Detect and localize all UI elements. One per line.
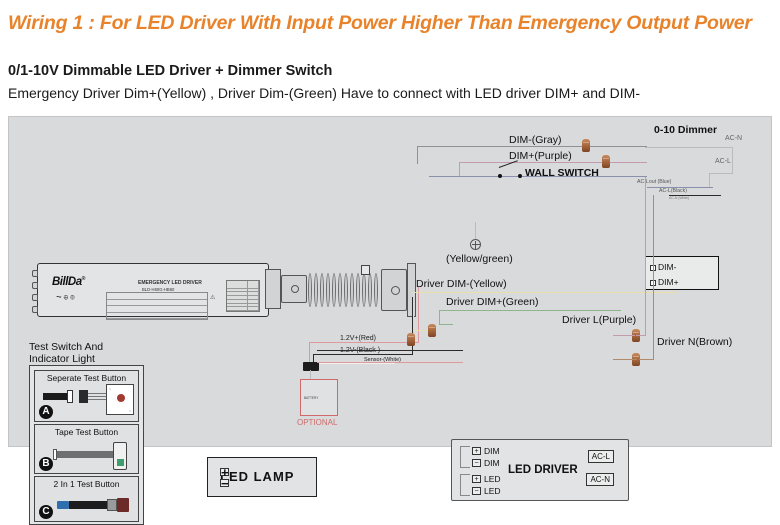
option-c-connector-icon xyxy=(107,499,117,511)
certification-marks-icon: ⏦ ⊕ ⊛ xyxy=(56,294,75,302)
driver-terminal-tab xyxy=(32,306,38,313)
led-driver-ac-l: AC-L xyxy=(588,450,614,463)
label-driver-dim-plus: Driver DIM+(Green) xyxy=(446,296,538,308)
flexible-conduit xyxy=(308,272,382,308)
led-driver-term-dim-minus: DIM xyxy=(484,458,500,468)
test-panel-caption: Test Switch And Indicator Light xyxy=(29,341,103,365)
test-option-c[interactable]: 2 In 1 Test Button C xyxy=(34,476,139,522)
label-12v-plus-red: 1.2V+(Red) xyxy=(340,335,376,342)
fitting-hole-icon xyxy=(291,285,299,293)
indicator-led-icon xyxy=(117,394,125,402)
wire-nut xyxy=(582,139,590,152)
dimmer-module[interactable]: DIM- DIM+ xyxy=(645,256,719,290)
led-lamp-terminal-positive: + xyxy=(220,468,229,476)
test-option-b[interactable]: Tape Test Button B xyxy=(34,424,139,474)
ground-symbol-icon xyxy=(470,239,481,250)
led-driver-term-sign: + xyxy=(472,475,481,483)
emergency-led-driver-module: BillDa® EMERGENCY LED DRIVER BLD-H60G-HB… xyxy=(37,263,269,317)
led-driver-term-sign: + xyxy=(472,447,481,455)
driver-product-label: EMERGENCY LED DRIVER xyxy=(138,280,202,286)
label-dim-plus-purple: DIM+(Purple) xyxy=(509,150,572,162)
option-a-cable-icon xyxy=(43,393,67,400)
sensor-connector xyxy=(361,265,370,275)
led-driver-term-led-plus: LED xyxy=(484,474,501,484)
wall-switch-contact xyxy=(518,174,522,178)
label-yellow-green: (Yellow/green) xyxy=(446,253,513,265)
test-switch-panel: Seperate Test Button □ □ A Tape Test But… xyxy=(29,365,144,525)
label-driver-l-purple: Driver L(Purple) xyxy=(562,314,636,326)
label-ac-l-black: AC-L(Black) xyxy=(659,188,687,194)
subtitle-secondary: Emergency Driver Dim+(Yellow) , Driver D… xyxy=(8,85,640,101)
option-a-indicator-plate: □ □ xyxy=(106,384,134,415)
driver-spec-table xyxy=(106,292,208,320)
status-led-icon xyxy=(117,459,124,466)
brand-logo: BillDa® xyxy=(52,276,85,288)
label-ac-n: AC-N xyxy=(725,135,742,142)
conduit-fitting xyxy=(281,275,307,303)
optional-label: OPTIONAL xyxy=(297,418,337,427)
dimmer-title: 0-10 Dimmer xyxy=(654,124,717,136)
label-dim-minus-gray: DIM-(Gray) xyxy=(509,134,562,146)
driver-terminal-tab xyxy=(32,294,38,301)
wire-nut xyxy=(428,324,436,337)
page-title: Wiring 1 : For LED Driver With Input Pow… xyxy=(8,12,752,35)
led-lamp-block: LED LAMP + − xyxy=(207,457,317,497)
label-ac-lout-blue: AC-Lout (Blue) xyxy=(637,179,671,185)
led-lamp-terminal-negative: − xyxy=(220,479,229,487)
led-driver-term-sign: − xyxy=(472,459,481,467)
test-option-a[interactable]: Seperate Test Button □ □ A xyxy=(34,370,139,422)
label-ac-n-white: AC-N (White) xyxy=(669,196,689,200)
optional-battery-box: BATTERY xyxy=(300,379,338,416)
warning-triangle-icon: ⚠ xyxy=(210,294,215,301)
label-driver-n-brown: Driver N(Brown) xyxy=(657,336,732,348)
lamp-head-body xyxy=(381,269,407,311)
battery-inner-label: BATTERY xyxy=(304,396,318,400)
wire-nut xyxy=(407,333,415,346)
label-driver-dim-minus: Driver DIM-(Yellow) xyxy=(416,278,507,290)
led-driver-ac-n: AC-N xyxy=(586,473,614,486)
wiring-diagram-panel: BillDa® EMERGENCY LED DRIVER BLD-H60G-HB… xyxy=(8,116,772,447)
led-driver-term-sign: − xyxy=(472,487,481,495)
driver-rating-grid xyxy=(226,280,260,312)
test-option-c-badge: C xyxy=(39,505,53,519)
label-ac-l: AC-L xyxy=(715,158,731,165)
option-c-cap-icon xyxy=(117,498,129,512)
driver-terminal-tab xyxy=(32,270,38,277)
option-c-cable-icon xyxy=(69,501,107,509)
led-driver-label: LED DRIVER xyxy=(508,464,578,476)
wire-nut xyxy=(602,155,610,168)
option-a-plug-icon xyxy=(79,390,88,403)
conduit-collar xyxy=(265,269,281,309)
option-b-button-icon xyxy=(113,442,127,470)
led-driver-term-led-minus: LED xyxy=(484,486,501,496)
subtitle-primary: 0/1-10V Dimmable LED Driver + Dimmer Swi… xyxy=(8,63,332,79)
test-option-b-label: Tape Test Button xyxy=(35,427,138,437)
led-lamp-label: LED LAMP xyxy=(220,469,294,484)
test-option-a-badge: A xyxy=(39,405,53,419)
driver-terminal-tab xyxy=(32,282,38,289)
lamp-head-hole-icon xyxy=(391,286,400,295)
test-option-a-label: Seperate Test Button xyxy=(35,373,138,383)
led-driver-block: LED DRIVER + DIM − DIM + LED − LED AC-L … xyxy=(451,439,629,501)
test-option-c-label: 2 In 1 Test Button xyxy=(35,479,138,489)
option-a-connector-icon xyxy=(67,390,73,403)
wall-switch-contact xyxy=(498,174,502,178)
test-option-b-badge: B xyxy=(39,457,53,471)
option-c-blue-sleeve-icon xyxy=(57,501,69,509)
